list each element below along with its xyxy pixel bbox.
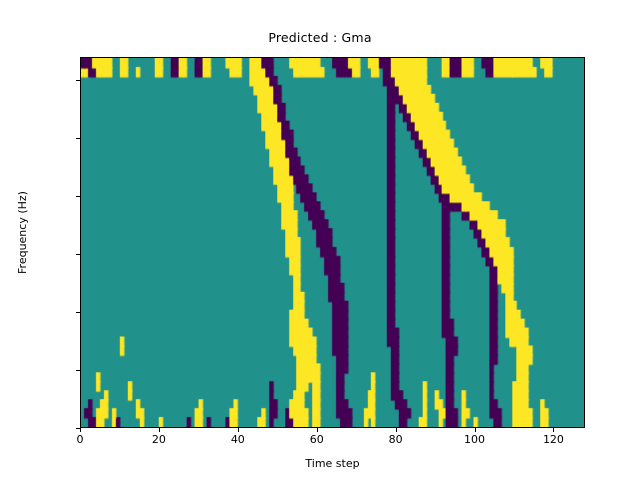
x-tick-mark bbox=[553, 428, 554, 432]
chart-title: Predicted : Gma bbox=[0, 30, 640, 45]
x-tick-label: 100 bbox=[445, 433, 505, 446]
x-tick-mark bbox=[80, 428, 81, 432]
x-tick-label: 120 bbox=[523, 433, 583, 446]
x-tick-label: 0 bbox=[50, 433, 110, 446]
x-tick-mark bbox=[396, 428, 397, 432]
heatmap-image bbox=[81, 58, 584, 427]
x-axis-label: Time step bbox=[80, 457, 585, 470]
x-tick-label: 60 bbox=[287, 433, 347, 446]
x-tick-label: 80 bbox=[366, 433, 426, 446]
x-tick-label: 40 bbox=[208, 433, 268, 446]
y-axis-label: Frequency (Hz) bbox=[16, 47, 29, 418]
x-tick-mark bbox=[317, 428, 318, 432]
x-tick-mark bbox=[475, 428, 476, 432]
heatmap-axes[interactable] bbox=[80, 57, 585, 428]
x-tick-mark bbox=[238, 428, 239, 432]
x-tick-label: 20 bbox=[129, 433, 189, 446]
matplotlib-figure: Predicted : Gma Frequency (Hz) 020000400… bbox=[0, 0, 640, 480]
x-tick-mark bbox=[159, 428, 160, 432]
